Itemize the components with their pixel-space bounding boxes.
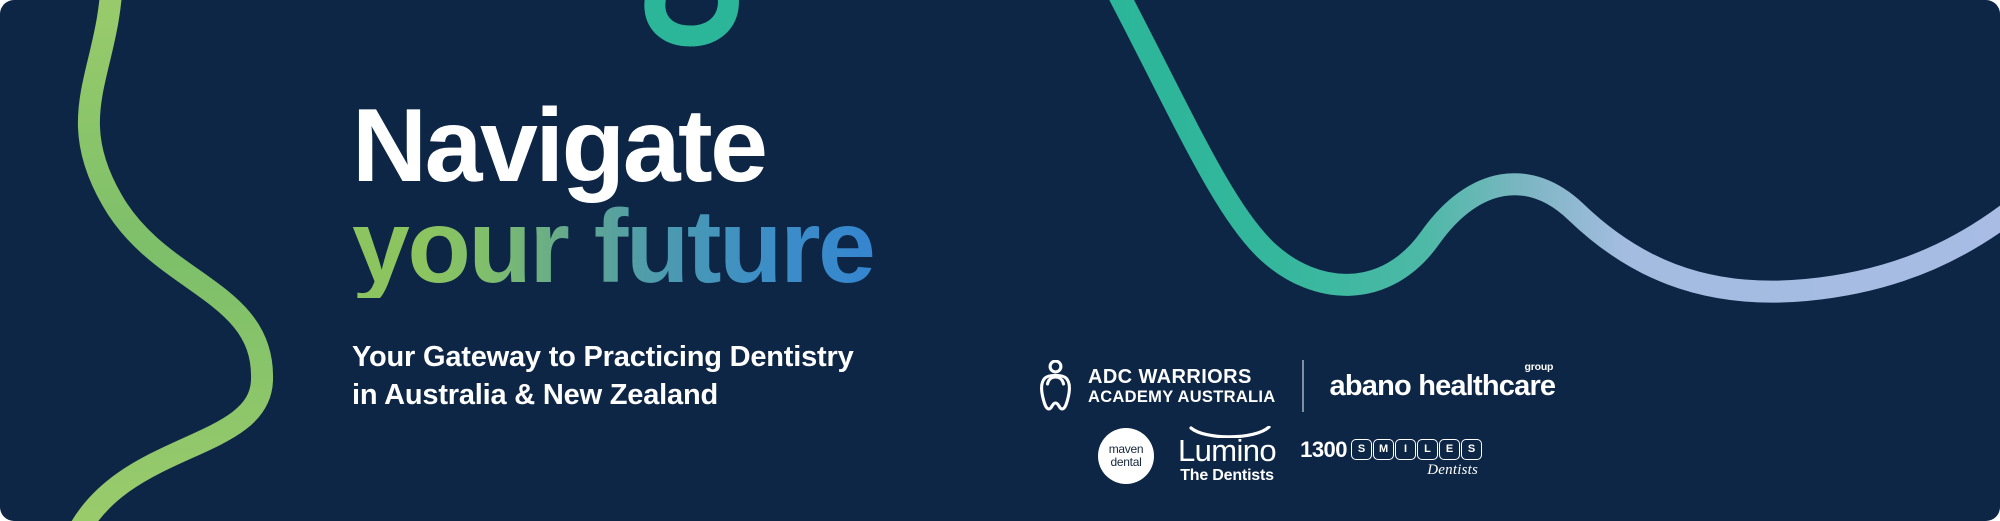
smiles-letter: S (1461, 439, 1482, 460)
teal-blue-wave-path (1106, 0, 2000, 292)
subtitle-line-2: in Australia & New Zealand (352, 376, 873, 415)
smiles-main-row: 1300 S M I L E S (1300, 437, 1482, 463)
lumino-logo: Lumino The Dentists (1178, 426, 1276, 485)
maven-dental-logo: maven dental (1098, 428, 1154, 484)
abano-healthcare-logo: abano healthcare group (1330, 370, 1556, 403)
adc-warriors-logo: ADC WARRIORS ACADEMY AUSTRALIA (1038, 360, 1276, 412)
smile-arc-icon (1189, 426, 1271, 438)
smiles-letter-boxes: S M I L E S (1351, 439, 1482, 460)
smiles-letter: I (1395, 439, 1416, 460)
smiles-letter: E (1439, 439, 1460, 460)
partner-logos-row-bottom: maven dental Lumino The Dentists 1300 S … (1038, 426, 1555, 485)
smiles-letter: S (1351, 439, 1372, 460)
adc-warriors-wordmark: ADC WARRIORS ACADEMY AUSTRALIA (1088, 367, 1276, 406)
partner-logos: ADC WARRIORS ACADEMY AUSTRALIA abano hea… (1038, 360, 1555, 485)
lumino-name: Lumino (1178, 435, 1276, 466)
promo-banner: Navigate your future Your Gateway to Pra… (0, 0, 2000, 521)
partner-logos-row-top: ADC WARRIORS ACADEMY AUSTRALIA abano hea… (1038, 360, 1555, 412)
adc-warriors-line-1: ADC WARRIORS (1088, 367, 1276, 387)
logo-divider (1302, 360, 1304, 412)
banner-text-block: Navigate your future Your Gateway to Pra… (352, 96, 873, 415)
maven-line-1: maven (1109, 443, 1144, 455)
lumino-tagline: The Dentists (1178, 467, 1276, 485)
smiles-prefix: 1300 (1300, 437, 1347, 463)
subtitle-line-1: Your Gateway to Practicing Dentistry (352, 338, 873, 377)
smiles-script-text: Dentists (1427, 462, 1478, 479)
banner-subtitle: Your Gateway to Practicing Dentistry in … (352, 338, 873, 415)
page-title: Navigate your future (352, 96, 873, 298)
maven-line-2: dental (1111, 456, 1142, 468)
teal-loop-path (655, 0, 729, 36)
decorative-waves (0, 0, 2000, 521)
tooth-person-icon (1038, 360, 1078, 412)
headline-line-2: your future (352, 197, 873, 298)
headline-line-1: Navigate (352, 96, 873, 197)
green-wave-path (74, 0, 262, 521)
abano-name: abano healthcare (1330, 370, 1556, 402)
abano-group-superscript: group (1525, 361, 1554, 373)
smiles-letter: L (1417, 439, 1438, 460)
smiles-letter: M (1373, 439, 1394, 460)
adc-warriors-line-2: ACADEMY AUSTRALIA (1088, 389, 1276, 406)
smiles-1300-logo: 1300 S M I L E S Dentists (1300, 437, 1482, 475)
